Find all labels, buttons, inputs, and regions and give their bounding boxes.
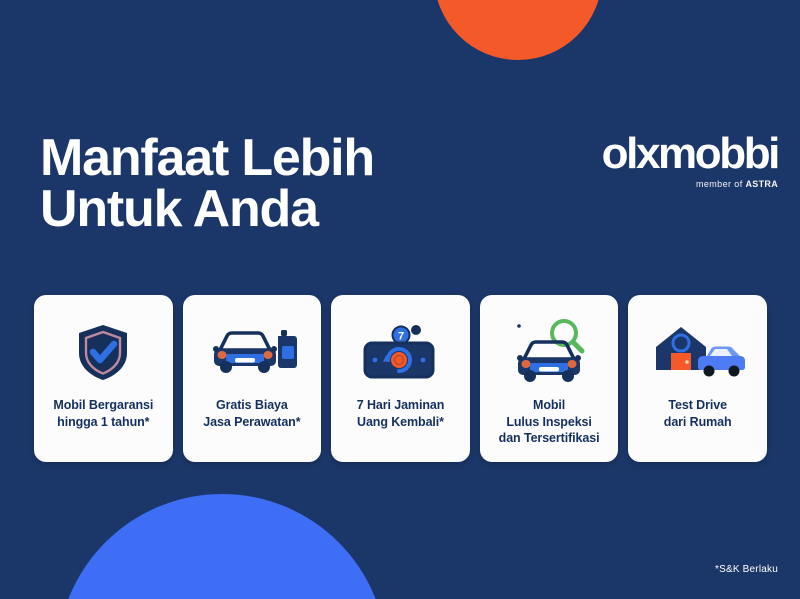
page-title: Manfaat Lebih Untuk Anda [40,133,374,235]
benefit-card-label: Test Drive dari Rumah [658,397,738,430]
orange-circle-decoration [434,0,602,60]
house-car-icon [628,319,767,385]
blue-circle-decoration [57,494,387,599]
benefit-card-label: 7 Hari Jaminan Uang Kembali* [351,397,451,430]
benefit-card-money-back[interactable]: 7 7 Hari Jaminan Uang Kembali* [331,295,470,462]
logo-tagline-prefix: member of [696,179,746,189]
promo-banner: Manfaat Lebih Untuk Anda olxmobbi member… [0,0,800,599]
logo-text: olxmobbi [602,132,778,176]
logo-wordmark: olxmobbi [602,132,778,176]
money-back-icon: 7 [331,319,470,385]
terms-footnote: *S&K Berlaku [715,564,778,575]
benefit-card-row: Mobil Bergaransi hingga 1 tahun* [34,295,767,462]
benefit-card-label: Mobil Lulus Inspeksi dan Tersertifikasi [493,397,606,447]
logo-tagline: member of ASTRA [602,179,778,189]
svg-text:7: 7 [398,331,404,343]
benefit-card-warranty[interactable]: Mobil Bergaransi hingga 1 tahun* [34,295,173,462]
shield-check-icon [34,319,173,385]
brand-logo: olxmobbi member of ASTRA [602,132,778,189]
benefit-card-test-drive[interactable]: Test Drive dari Rumah [628,295,767,462]
car-oil-bottle-icon [183,319,322,385]
benefit-card-free-service[interactable]: Gratis Biaya Jasa Perawatan* [183,295,322,462]
benefit-card-inspected[interactable]: Mobil Lulus Inspeksi dan Tersertifikasi [480,295,619,462]
logo-tagline-brand: ASTRA [746,179,779,189]
car-magnifier-icon [480,319,619,385]
benefit-card-label: Mobil Bergaransi hingga 1 tahun* [47,397,159,430]
benefit-card-label: Gratis Biaya Jasa Perawatan* [197,397,306,430]
